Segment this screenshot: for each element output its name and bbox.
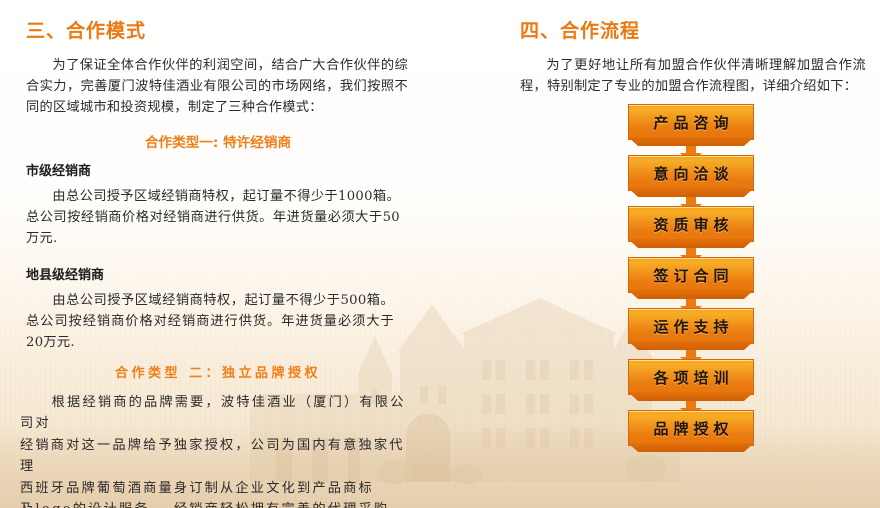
flow-box-6[interactable]: 各项培训 [628,359,754,395]
type-heading-1: 合作类型一: 特许经销商 [18,137,418,151]
left-intro-paragraph: 为了保证全体合作伙伴的利润空间，结合广大合作伙伴的综合实力，完善厦门波特佳酒业有… [18,55,418,118]
flow-box-3[interactable]: 资质审核 [628,206,754,242]
section-heading-cooperation-process: 四、合作流程 [512,0,868,41]
sub-label-city-distributor: 市级经销商 [18,165,418,178]
flow-step-7[interactable]: 品牌授权 [512,410,868,461]
flow-box-label-7: 品牌授权 [628,410,754,446]
right-intro-paragraph: 为了更好地让所有加盟合作伙伴清晰理解加盟合作流程，特别制定了专业的加盟合作流程图… [512,55,868,97]
flow-step-6[interactable]: 各项培训 [512,359,868,410]
flow-box-2[interactable]: 意向洽谈 [628,155,754,191]
sub-label-county-distributor: 地县级经销商 [18,269,418,282]
page-root: 三、合作模式 为了保证全体合作伙伴的利润空间，结合广大合作伙伴的综合实力，完善厦… [0,0,880,508]
cooperation-process-flowchart: 产品咨询 意向洽谈 资质 [512,104,868,461]
flow-step-3[interactable]: 资质审核 [512,206,868,257]
flow-box-label-6: 各项培训 [628,359,754,395]
flow-box-label-2: 意向洽谈 [628,155,754,191]
type2-line-4: 及logo的设计服务， 经销商轻松拥有完善的代理采购， [20,499,418,508]
section-heading-cooperation-modes: 三、合作模式 [18,0,418,41]
flow-step-2[interactable]: 意向洽谈 [512,155,868,206]
flow-box-label-3: 资质审核 [628,206,754,242]
type2-line-1-text: 根据经销商的品牌需要，波特佳酒业（厦门）有限公司对 [20,395,406,432]
flow-box-5[interactable]: 运作支持 [628,308,754,344]
type2-body: 根据经销商的品牌需要，波特佳酒业（厦门）有限公司对 经销商对这一品牌给予独家授权… [18,392,418,508]
city-distributor-text: 由总公司授予区域经销商特权，起订量不得少于1000箱。总公司按经销商价格对经销商… [18,186,418,249]
flow-step-5[interactable]: 运作支持 [512,308,868,359]
type-heading-2: 合作类型 二：独立品牌授权 [18,367,418,380]
type2-line-1: 根据经销商的品牌需要，波特佳酒业（厦门）有限公司对 [20,392,418,435]
flow-box-1[interactable]: 产品咨询 [628,104,754,140]
flow-step-1[interactable]: 产品咨询 [512,104,868,155]
type2-line-3: 西班牙品牌葡萄酒商量身订制从企业文化到产品商标 [20,478,418,500]
right-column: 四、合作流程 为了更好地让所有加盟合作伙伴清晰理解加盟合作流程，特别制定了专业的… [512,0,868,97]
left-column: 三、合作模式 为了保证全体合作伙伴的利润空间，结合广大合作伙伴的综合实力，完善厦… [18,0,418,508]
flow-box-4[interactable]: 签订合同 [628,257,754,293]
flow-box-label-5: 运作支持 [628,308,754,344]
flow-box-7[interactable]: 品牌授权 [628,410,754,446]
flow-box-label-4: 签订合同 [628,257,754,293]
county-distributor-text: 由总公司授予区域经销商特权，起订量不得少于500箱。总公司按经销商价格对经销商进… [18,290,418,353]
type2-line-2: 经销商对这一品牌给予独家授权，公司为国内有意独家代理 [20,435,418,478]
flow-box-label-1: 产品咨询 [628,104,754,140]
flow-step-4[interactable]: 签订合同 [512,257,868,308]
